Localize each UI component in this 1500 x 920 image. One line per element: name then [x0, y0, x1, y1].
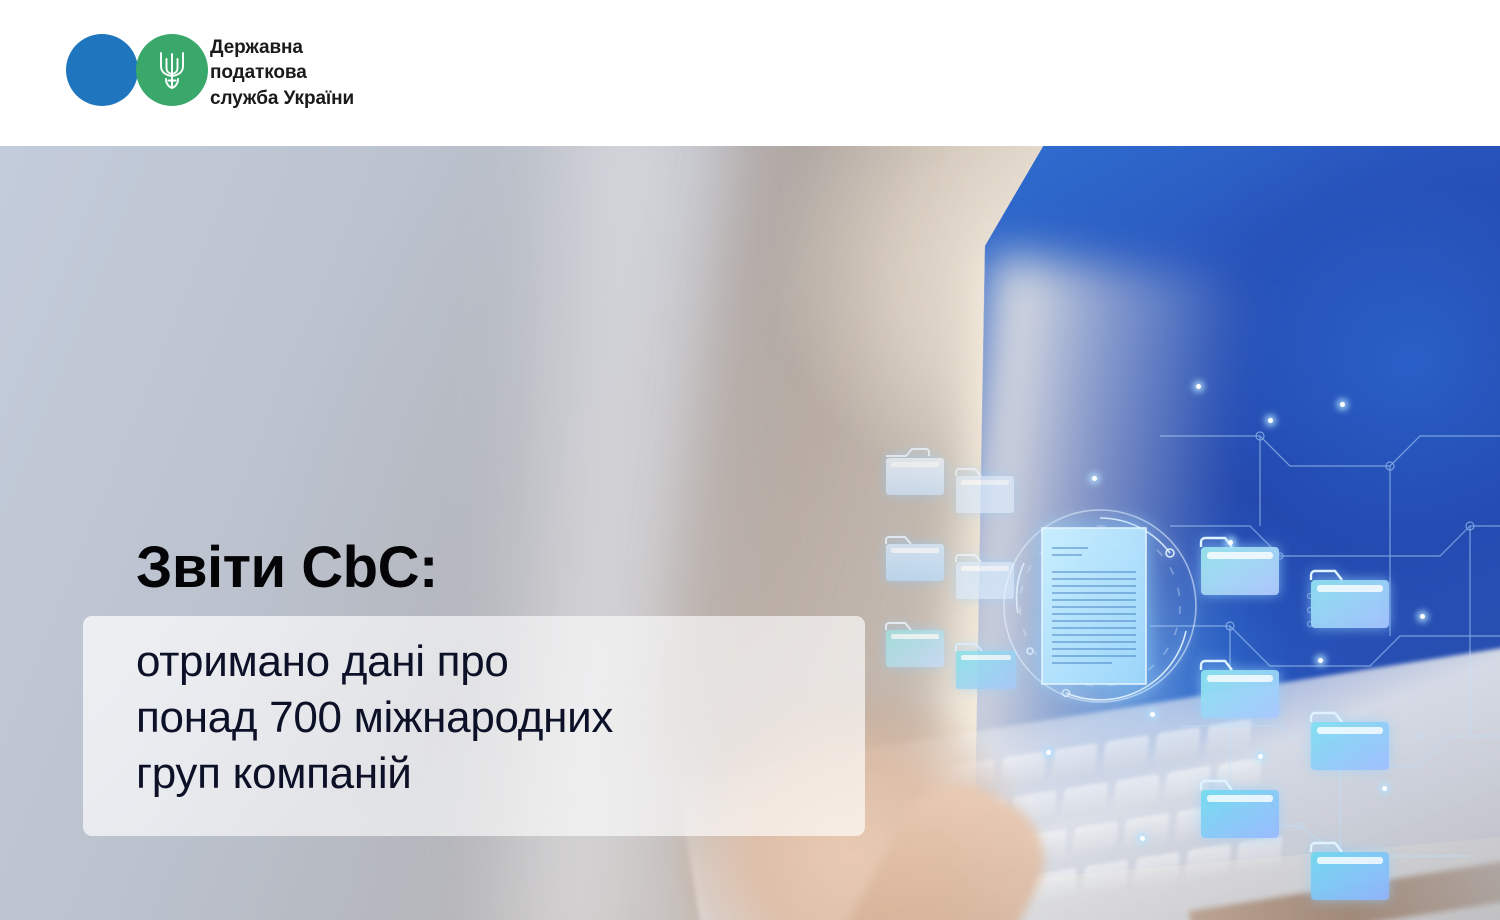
ukraine-trident-icon: [155, 48, 189, 92]
spark-icon: [1140, 836, 1145, 841]
folder-icon: [1308, 564, 1392, 632]
spark-icon: [1340, 402, 1345, 407]
blue-circle-icon: [66, 34, 138, 106]
spark-icon: [1268, 418, 1273, 423]
spark-icon: [1382, 786, 1387, 791]
spark-icon: [1318, 658, 1323, 663]
document-icon: [1040, 526, 1148, 686]
folder-icon: [1308, 706, 1392, 774]
logo-marks: [66, 34, 194, 112]
organization-logo[interactable]: Державна податкова служба України: [66, 34, 354, 112]
folder-icon: [1198, 654, 1282, 722]
spark-icon: [1258, 754, 1263, 759]
hero-body-text: отримано дані про понад 700 міжнародних …: [136, 634, 876, 802]
folder-icon: [884, 532, 948, 584]
spark-icon: [1046, 750, 1051, 755]
folder-icon: [1198, 774, 1282, 842]
page-title: Звіти CbC:: [136, 534, 438, 601]
folder-icon: [1308, 836, 1392, 904]
site-header: Державна податкова служба України: [0, 0, 1500, 146]
spark-icon: [1150, 712, 1155, 717]
spark-icon: [1196, 384, 1201, 389]
folder-icon: [884, 446, 948, 498]
organization-name: Державна податкова служба України: [210, 35, 354, 111]
spark-icon: [1420, 614, 1425, 619]
spark-icon: [1228, 540, 1233, 545]
spark-icon: [1092, 476, 1097, 481]
folder-icon: [1198, 531, 1282, 599]
green-circle-icon: [136, 34, 208, 106]
hero-banner: Звіти CbC: отримано дані про понад 700 м…: [0, 146, 1500, 920]
folder-icon: [884, 618, 948, 670]
